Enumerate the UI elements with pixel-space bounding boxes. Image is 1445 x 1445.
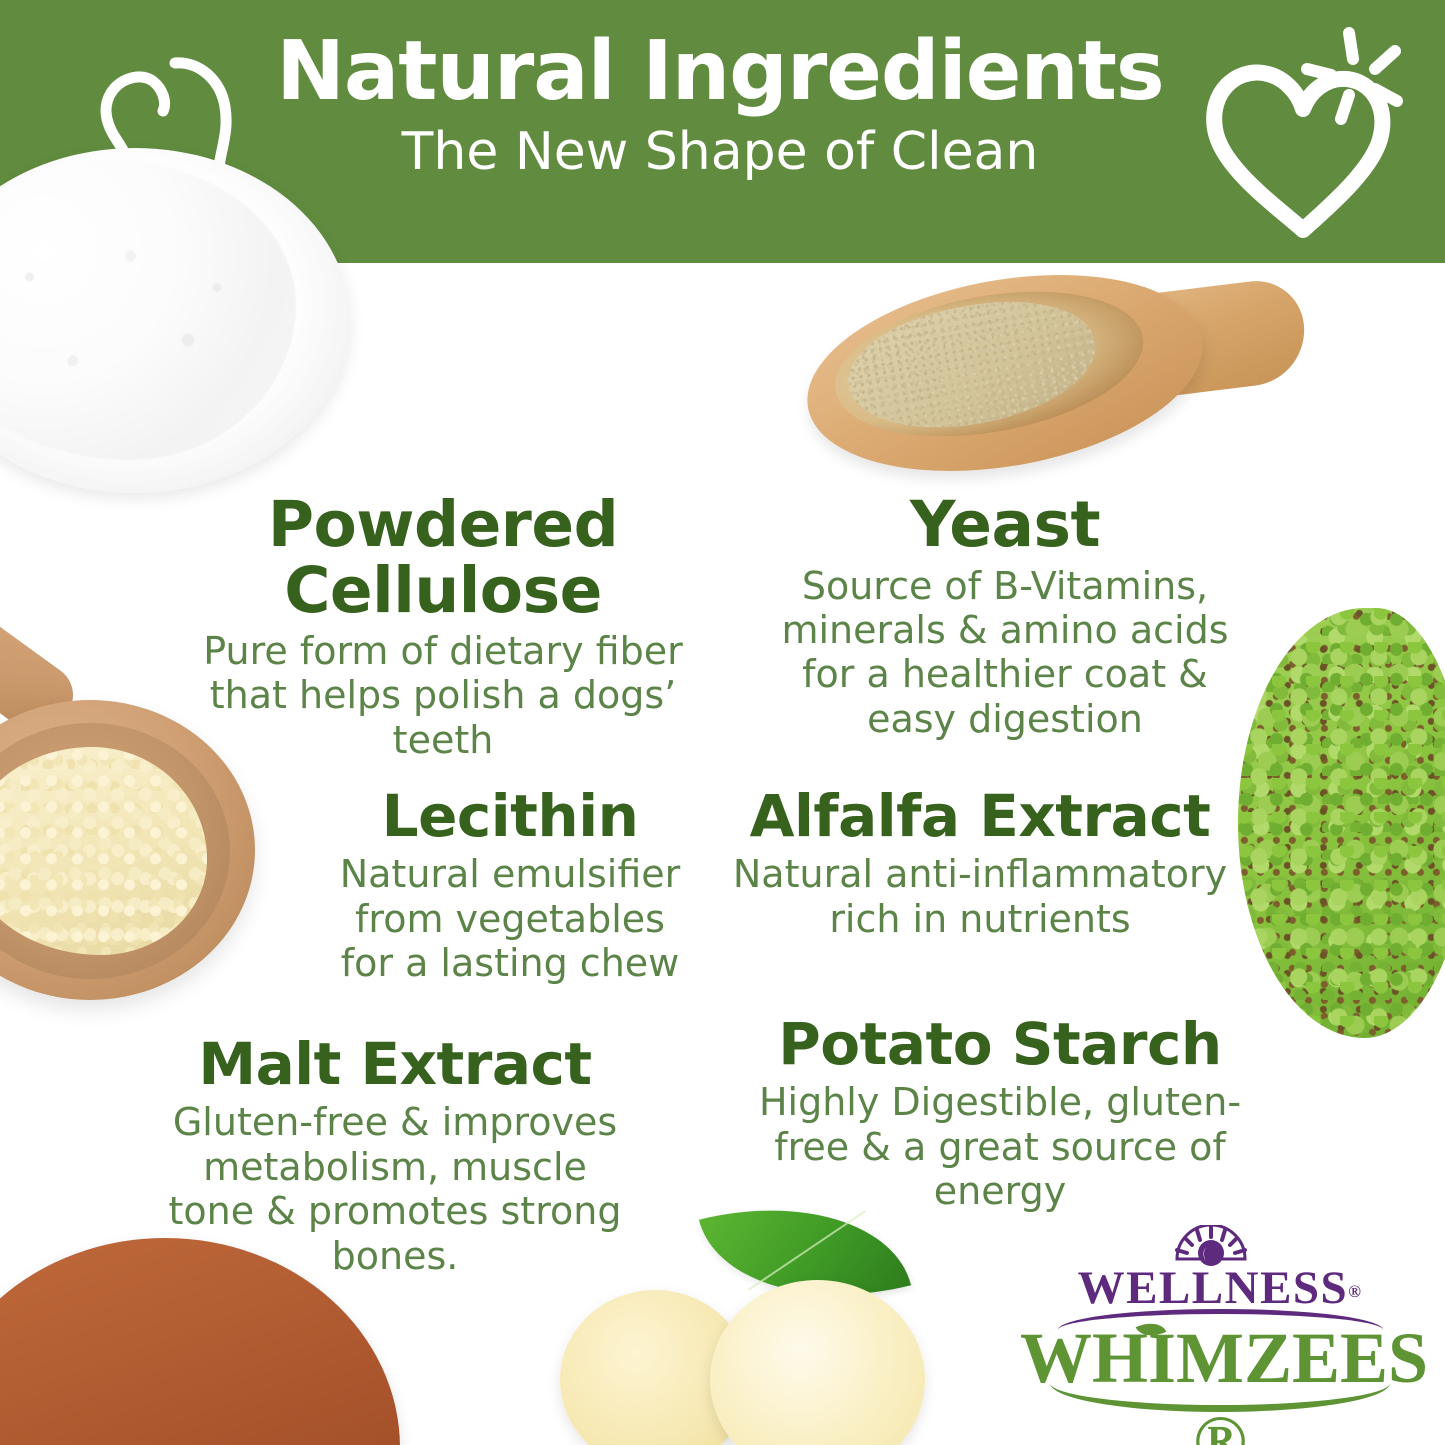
photo-white-powder-in-bowl [0,268,350,498]
sparkle-heart-icon [1185,25,1420,250]
barley-grains [0,1254,384,1445]
ingredient-powdered-cellulose: Powdered Cellulose Pure form of dietary … [183,492,703,762]
ingredient-description: Natural emulsifier from vegetables for a… [330,852,690,985]
photo-alfalfa-sprouts [1238,608,1445,1038]
header-titles: Natural Ingredients The New Shape of Cle… [250,30,1190,181]
brand-whimzees-row: WHIMZEES® [1020,1317,1420,1445]
ingredient-title: Yeast [770,492,1240,558]
brand-wellness-text: WELLNESS [1078,1261,1349,1315]
ingredient-description: Gluten-free & improves metabolism, muscl… [155,1100,635,1278]
photo-yeast-granules-in-wooden-scoop [795,272,1295,482]
ingredient-description: Highly Digestible, gluten-free & a great… [735,1080,1265,1213]
page-title: Natural Ingredients [250,30,1190,114]
potato-slice-front [710,1280,925,1445]
ingredient-title: Powdered Cellulose [183,492,703,623]
brand-wellness-registered-mark: ® [1348,1282,1362,1302]
ingredient-description: Natural anti-inflammatory rich in nutrie… [720,852,1240,941]
page-subtitle: The New Shape of Clean [250,124,1190,181]
ingredient-description: Pure form of dietary fiber that helps po… [183,629,703,762]
ingredients-infographic: Natural Ingredients The New Shape of Cle… [0,0,1445,1445]
ingredient-title: Potato Starch [735,1014,1265,1074]
ingredient-potato-starch: Potato Starch Highly Digestible, gluten-… [735,1014,1265,1214]
ingredient-yeast: Yeast Source of B-Vitamins, minerals & a… [770,492,1240,741]
brand-logo: WELLNESS® WHIMZEES® [1020,1225,1420,1420]
ingredient-title: Malt Extract [155,1034,635,1094]
brand-wellness-row: WELLNESS® [1020,1261,1420,1315]
ingredient-title: Lecithin [330,786,690,846]
ingredient-malt-extract: Malt Extract Gluten-free & improves meta… [155,1034,635,1278]
ingredient-lecithin: Lecithin Natural emulsifier from vegetab… [330,786,690,986]
ingredient-title: Alfalfa Extract [720,786,1240,846]
ingredient-description: Source of B-Vitamins, minerals & amino a… [770,564,1240,742]
sprout-cluster [1238,608,1445,1038]
ingredient-alfalfa-extract: Alfalfa Extract Natural anti-inflammator… [720,786,1240,941]
